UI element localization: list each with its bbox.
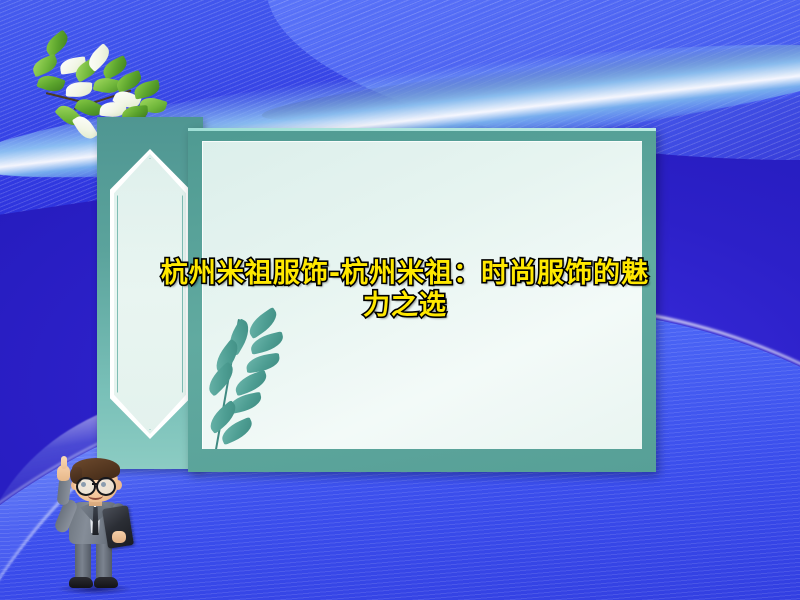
glasses-bridge — [92, 483, 97, 485]
slide-title-line-2: 力之选 — [150, 290, 660, 322]
leaf-icon — [30, 54, 60, 78]
character-left-shoe — [69, 577, 93, 588]
slide-title: 杭州米祖服饰-杭州米祖：时尚服饰的魅 力之选 — [150, 258, 660, 322]
leaf-icon — [72, 113, 98, 143]
character-pointing-finger — [61, 456, 67, 469]
character-smile — [88, 491, 103, 500]
character-right-hand — [112, 531, 126, 543]
teal-branch-decoration — [204, 313, 314, 449]
presentation-slide: 杭州米祖服饰-杭州米祖：时尚服饰的魅 力之选 — [0, 0, 800, 600]
branch-leaf-icon — [203, 361, 239, 396]
slide-title-line-1: 杭州米祖服饰-杭州米祖：时尚服饰的魅 — [150, 258, 660, 290]
leaf-icon — [42, 30, 72, 58]
leaf-icon — [66, 82, 93, 98]
character-right-shoe — [94, 577, 118, 588]
businessman-character-illustration — [44, 455, 154, 600]
branch-leaf-icon — [232, 370, 269, 397]
leaf-icon — [36, 72, 65, 94]
